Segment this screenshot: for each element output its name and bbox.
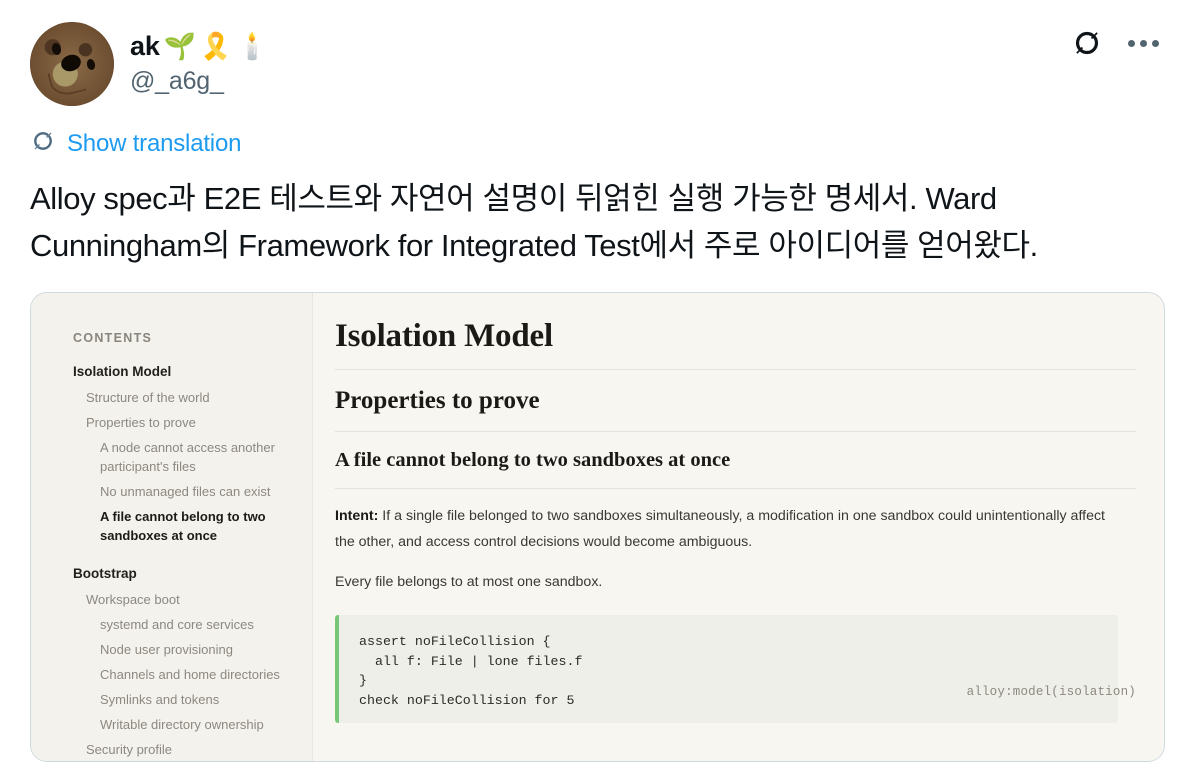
toc-item[interactable]: No unmanaged files can exist	[73, 482, 294, 501]
toc-item[interactable]: Workspace boot	[73, 590, 294, 609]
toc-item[interactable]: Node user provisioning	[73, 640, 294, 659]
display-name: ak	[130, 30, 160, 62]
name-block: ak 🌱 🎗️ 🕯️ @_a6g_	[130, 22, 268, 98]
show-translation-button[interactable]: Show translation	[30, 128, 241, 159]
avatar-image	[30, 22, 114, 106]
statement-paragraph: Every file belongs to at most one sandbo…	[335, 569, 1125, 595]
toc-group-bootstrap: Bootstrap Workspace boot systemd and cor…	[73, 566, 294, 762]
toc-item[interactable]: Structure of the world	[73, 388, 294, 407]
embedded-media-card[interactable]: CONTENTS Isolation Model Structure of th…	[30, 292, 1165, 762]
grok-icon[interactable]	[1070, 26, 1104, 60]
toc-item[interactable]: Channels and home directories	[73, 665, 294, 684]
show-translation-label: Show translation	[67, 130, 241, 158]
more-dot	[1140, 40, 1147, 47]
user-handle[interactable]: @_a6g_	[130, 65, 268, 98]
toc-item[interactable]: Security profile	[73, 740, 294, 759]
more-dot	[1152, 40, 1159, 47]
display-name-row[interactable]: ak 🌱 🎗️ 🕯️	[130, 30, 268, 62]
avatar-eye-left-detail	[51, 42, 62, 56]
intent-label: Intent:	[335, 508, 378, 524]
toc-group-title[interactable]: Isolation Model	[73, 364, 294, 379]
code-caption: alloy:model(isolation)	[967, 685, 1136, 699]
toc-item[interactable]: systemd and core services	[73, 615, 294, 634]
toc-group-title[interactable]: Bootstrap	[73, 566, 294, 581]
document-heading-1: Isolation Model	[335, 315, 1136, 357]
ribbon-icon: 🎗️	[200, 33, 232, 59]
intent-text: If a single file belonged to two sandbox…	[335, 508, 1105, 550]
toc-item[interactable]: Writable directory ownership	[73, 715, 294, 734]
avatar[interactable]	[30, 22, 114, 106]
toc-item[interactable]: Properties to prove	[73, 413, 294, 432]
more-dot	[1128, 40, 1135, 47]
intent-paragraph: Intent: If a single file belonged to two…	[335, 503, 1125, 555]
document-sidebar: CONTENTS Isolation Model Structure of th…	[31, 293, 313, 761]
grok-translate-icon	[30, 128, 56, 159]
heading-divider	[335, 488, 1136, 489]
heading-divider	[335, 369, 1136, 370]
candle-icon: 🕯️	[236, 33, 268, 59]
toc-group-isolation-model: Isolation Model Structure of the world P…	[73, 364, 294, 545]
seedling-icon: 🌱	[164, 33, 196, 59]
more-options-icon[interactable]	[1126, 29, 1160, 57]
document-heading-3: A file cannot belong to two sandboxes at…	[335, 445, 1136, 476]
document-heading-2: Properties to prove	[335, 383, 1136, 419]
heading-divider	[335, 431, 1136, 432]
document-main: Isolation Model Properties to prove A fi…	[313, 293, 1164, 761]
toc-item[interactable]: Symlinks and tokens	[73, 690, 294, 709]
tweet-header: ak 🌱 🎗️ 🕯️ @_a6g_	[30, 22, 1160, 114]
alloy-code-block: assert noFileCollision { all f: File | l…	[335, 615, 1118, 723]
tweet-text: Alloy spec과 E2E 테스트와 자연어 설명이 뒤얽힌 실행 가능한 …	[30, 175, 1160, 269]
contents-title: CONTENTS	[73, 331, 294, 345]
header-actions	[1070, 26, 1160, 60]
avatar-eye-right-detail	[86, 58, 96, 70]
toc-item[interactable]: A node cannot access another participant…	[73, 438, 294, 476]
tweet-container: ak 🌱 🎗️ 🕯️ @_a6g_	[0, 0, 1190, 778]
toc-item-active[interactable]: A file cannot belong to two sandboxes at…	[73, 507, 294, 545]
